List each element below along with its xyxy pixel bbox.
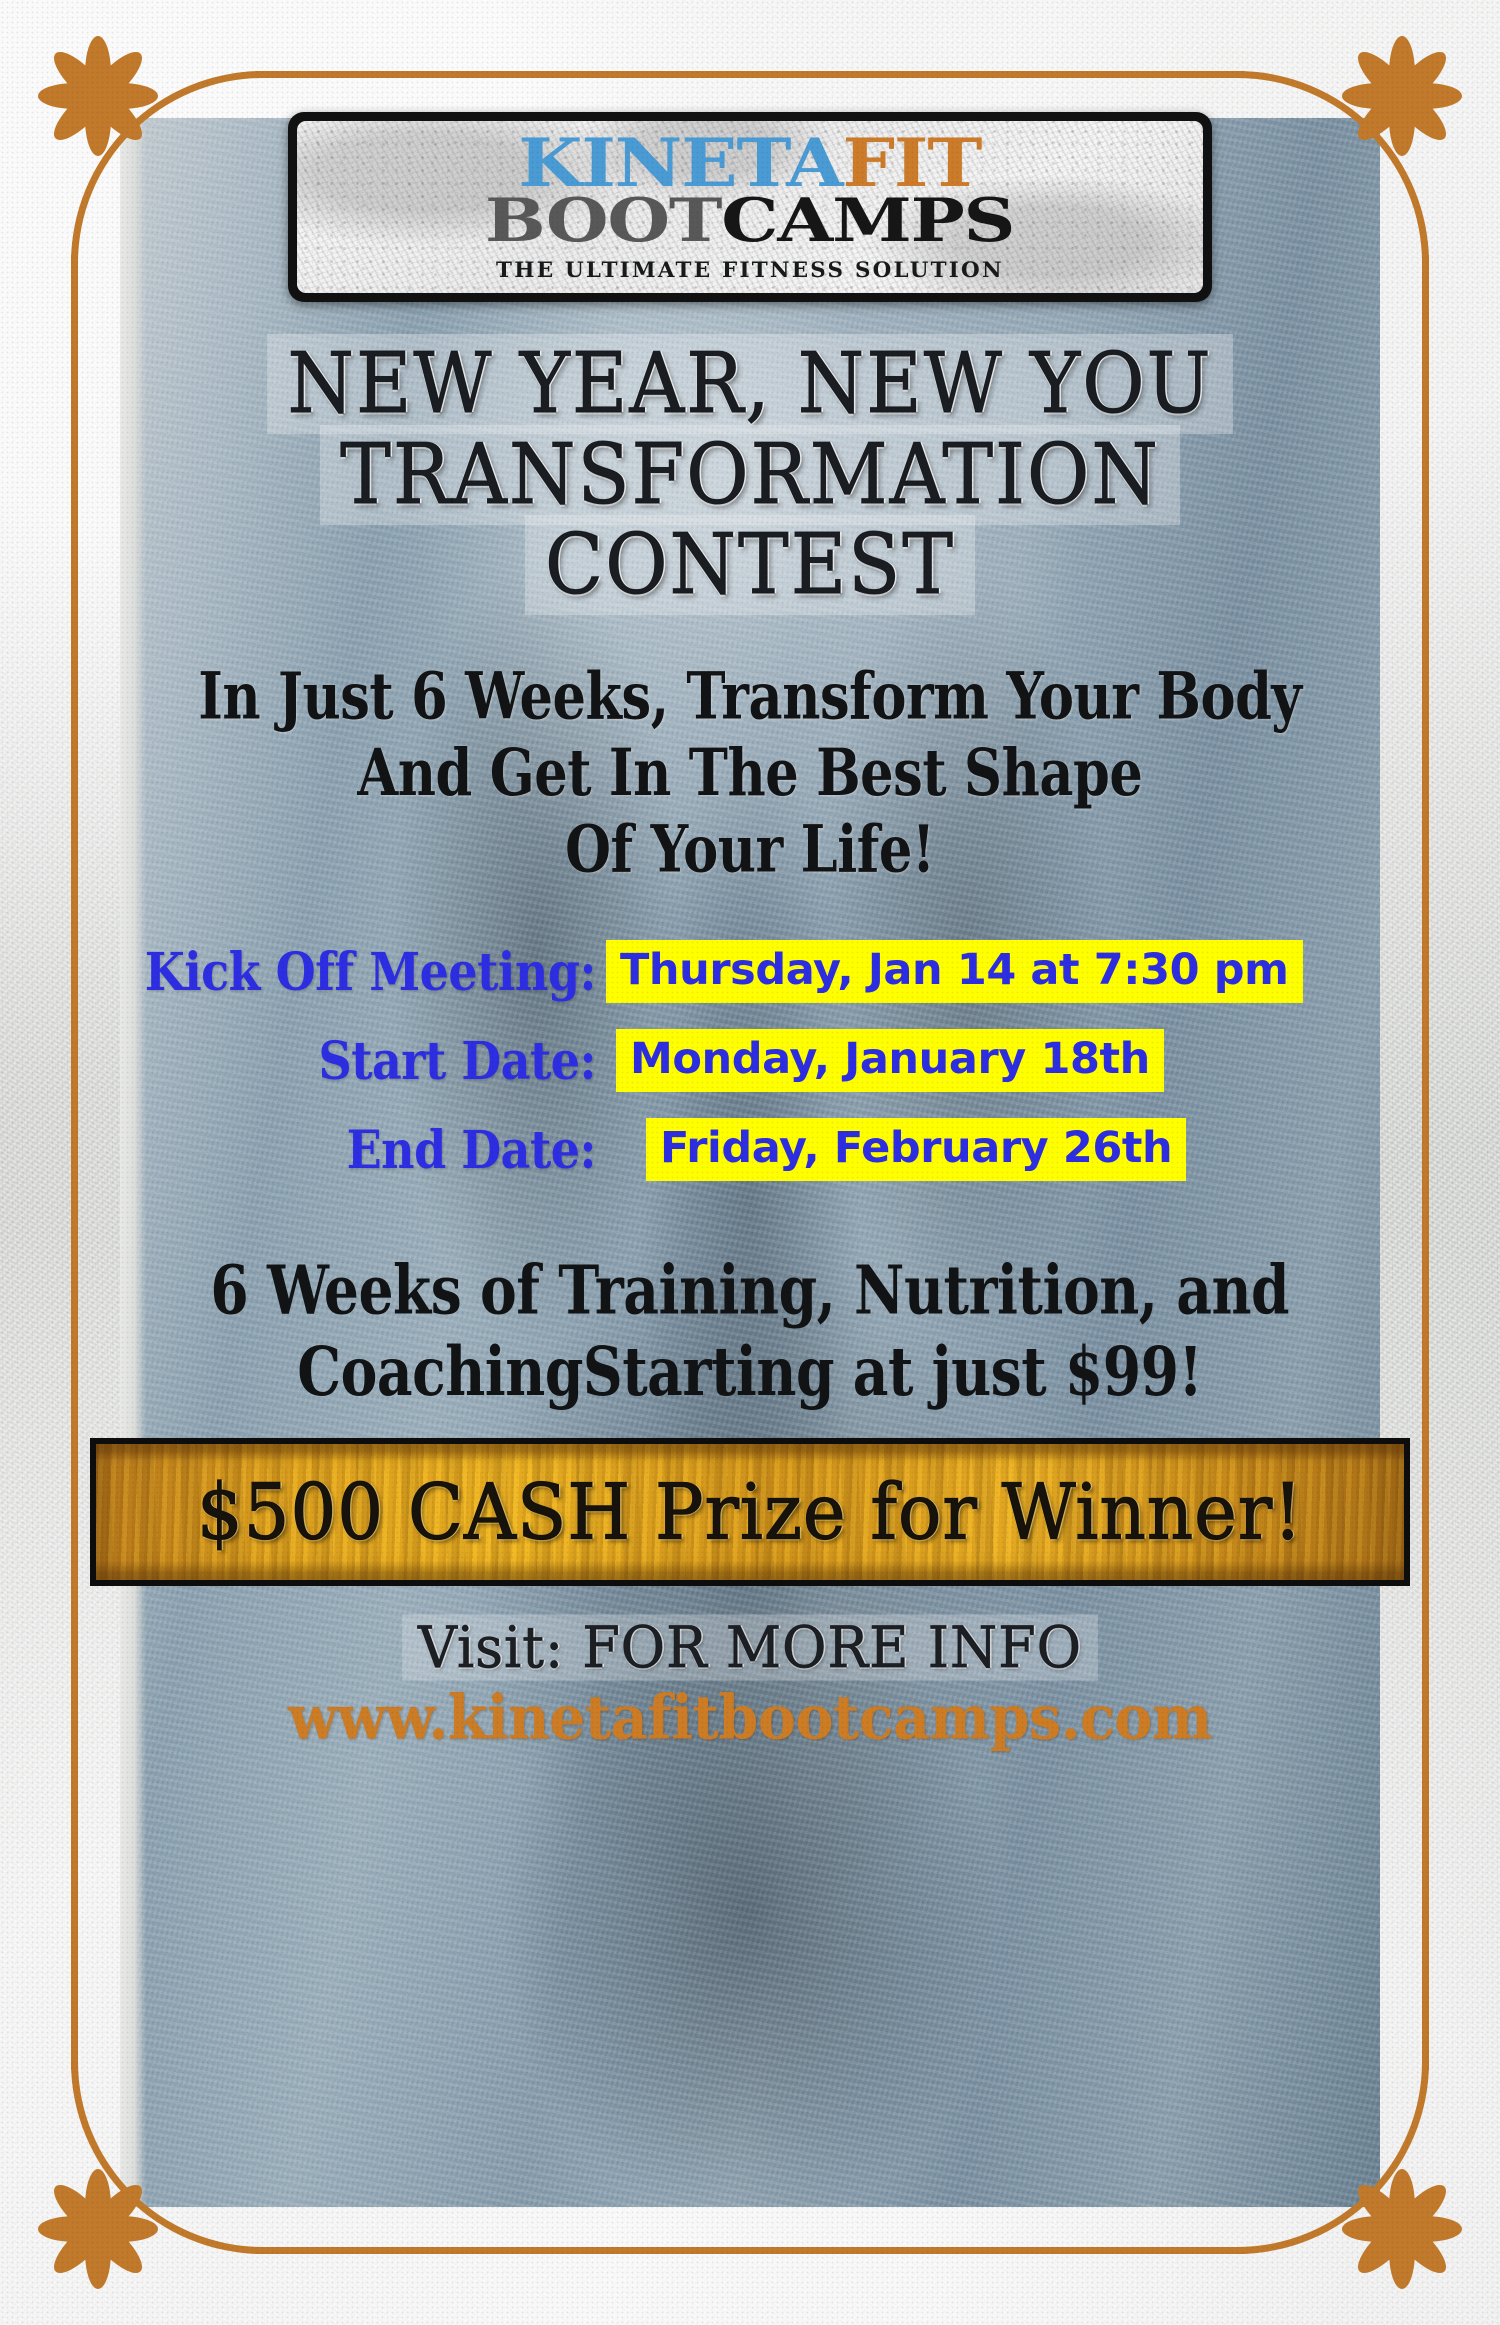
schedule-value-kickoff: Thursday, Jan 14 at 7:30 pm	[606, 940, 1303, 1003]
poster-content: KINETAFIT BOOTCAMPS THE ULTIMATE FITNESS…	[0, 0, 1500, 2325]
subheadline-line-3: Of Your Life!	[198, 811, 1301, 888]
brand-logo-inner: KINETAFIT BOOTCAMPS THE ULTIMATE FITNESS…	[297, 121, 1203, 293]
brand-word-boot: BOOT	[485, 186, 721, 256]
website-url[interactable]: www.kinetafitbootcamps.com	[0, 1683, 1500, 1754]
brand-logo-plaque: KINETAFIT BOOTCAMPS THE ULTIMATE FITNESS…	[288, 112, 1212, 302]
schedule-label-start: Start Date:	[96, 1030, 596, 1092]
brand-word-camps: CAMPS	[722, 186, 1015, 256]
headline-line-2: TRANSFORMATION	[320, 425, 1180, 525]
prize-banner: $500 CASH Prize for Winner!	[90, 1438, 1410, 1586]
headline-line-1: NEW YEAR, NEW YOU	[267, 334, 1232, 434]
subheadline: In Just 6 Weeks, Transform Your Body And…	[198, 658, 1301, 888]
pricing-line-2: CoachingStarting at just $99!	[211, 1332, 1290, 1413]
footer-block: Visit: FOR MORE INFO www.kinetafitbootca…	[0, 1616, 1500, 1751]
prize-banner-text: $500 CASH Prize for Winner!	[197, 1468, 1303, 1557]
visit-info-text: Visit: FOR MORE INFO	[402, 1615, 1098, 1681]
subheadline-line-2: And Get In The Best Shape	[198, 735, 1301, 812]
headline-line-3: CONTEST	[525, 515, 975, 615]
schedule-value-end: Friday, February 26th	[646, 1118, 1186, 1181]
page-title: NEW YEAR, NEW YOU TRANSFORMATION CONTEST	[0, 334, 1500, 606]
schedule-label-end: End Date:	[96, 1119, 596, 1181]
brand-logo-line-2: BOOTCAMPS	[485, 193, 1014, 249]
schedule-row-end: End Date: Friday, February 26th	[66, 1118, 1434, 1181]
brand-tagline: THE ULTIMATE FITNESS SOLUTION	[496, 257, 1004, 282]
subheadline-line-1: In Just 6 Weeks, Transform Your Body	[198, 658, 1301, 735]
poster-root: KINETAFIT BOOTCAMPS THE ULTIMATE FITNESS…	[0, 0, 1500, 2325]
pricing-line-1: 6 Weeks of Training, Nutrition, and	[211, 1251, 1290, 1332]
schedule-row-start: Start Date: Monday, January 18th	[66, 1029, 1434, 1092]
schedule-block: Kick Off Meeting: Thursday, Jan 14 at 7:…	[0, 940, 1500, 1207]
schedule-value-start: Monday, January 18th	[616, 1029, 1164, 1092]
pricing-copy: 6 Weeks of Training, Nutrition, and Coac…	[211, 1251, 1290, 1412]
schedule-label-kickoff: Kick Off Meeting:	[96, 941, 596, 1003]
schedule-row-kickoff: Kick Off Meeting: Thursday, Jan 14 at 7:…	[66, 940, 1434, 1003]
